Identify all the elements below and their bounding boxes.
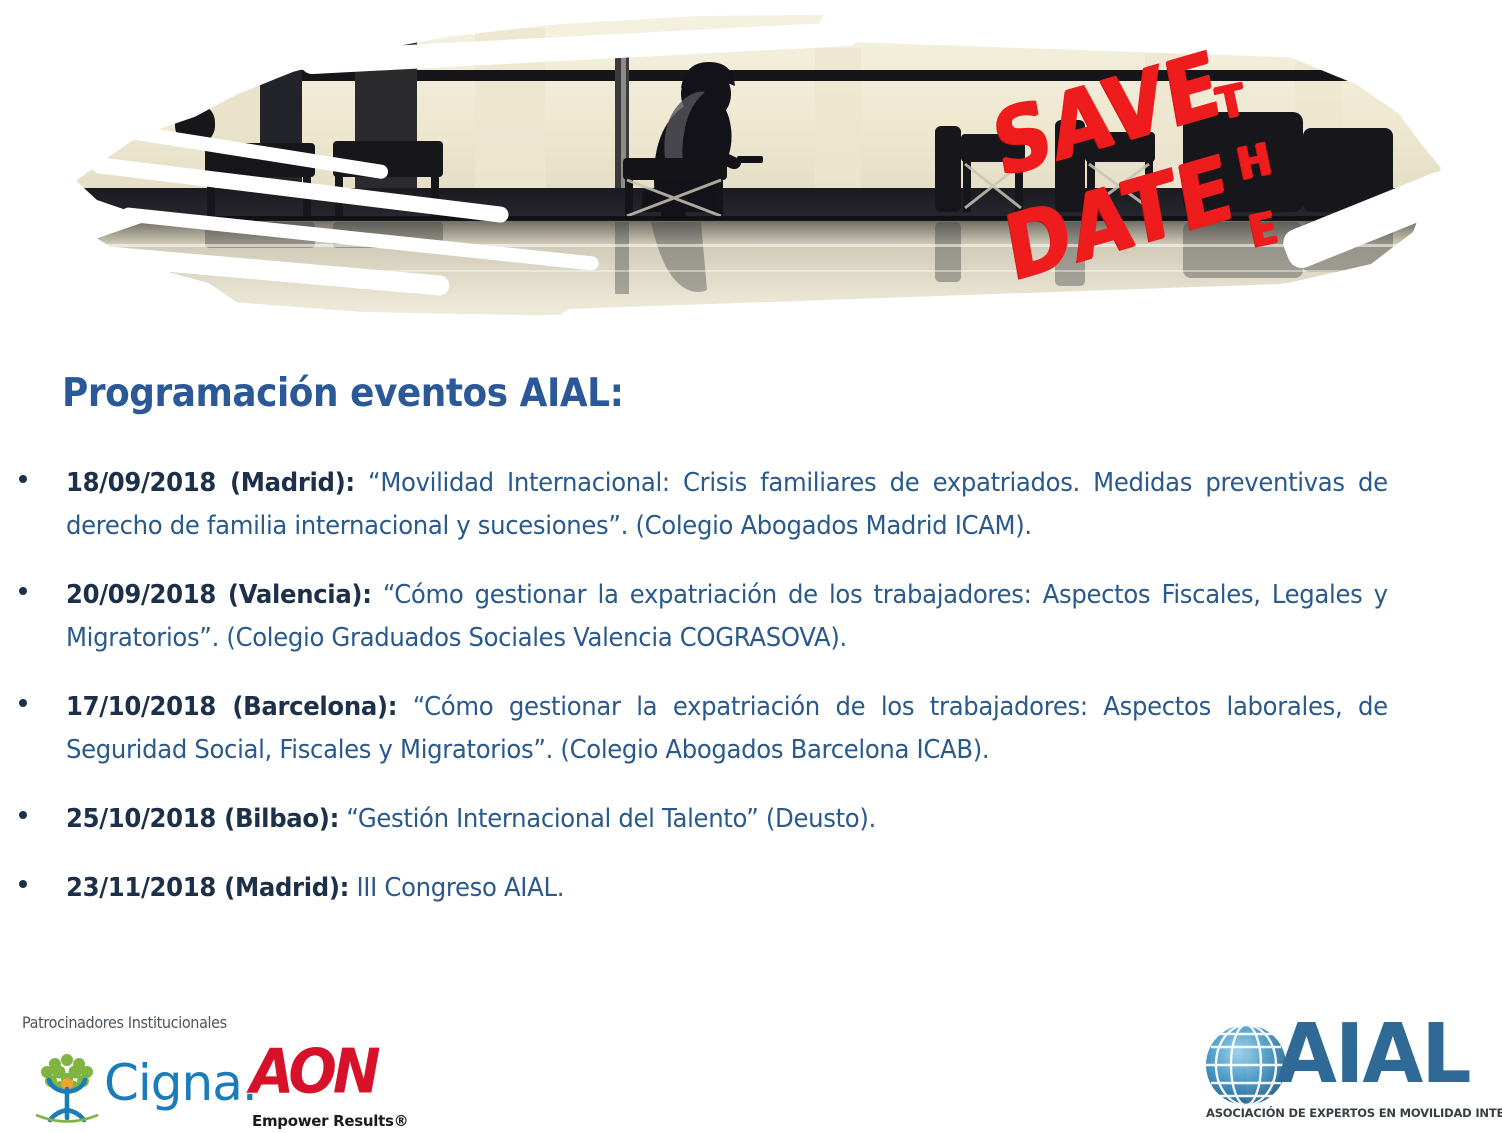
bullet-dot-icon	[19, 699, 27, 707]
list-item: 23/11/2018 (Madrid): III Congreso AIAL.	[0, 867, 1502, 910]
aial-wordmark: AIAL	[1276, 1014, 1470, 1096]
hero-banner: SAVE DATE T H E	[0, 0, 1502, 340]
hero-photo	[55, 8, 1455, 328]
bullet-dot-icon	[19, 587, 27, 595]
list-item-text: 18/09/2018 (Madrid): “Movilidad Internac…	[66, 462, 1388, 548]
event-date: 18/09/2018 (Madrid):	[66, 468, 355, 498]
aial-tagline: ASOCIACIÓN DE EXPERTOS EN MOVILIDAD INTE…	[1206, 1106, 1502, 1120]
event-date: 17/10/2018 (Barcelona):	[66, 692, 397, 722]
bullet-dot-icon	[19, 475, 27, 483]
list-item: 17/10/2018 (Barcelona): “Cómo gestionar …	[0, 686, 1502, 772]
sponsors-label: Patrocinadores Institucionales	[22, 1013, 227, 1032]
aon-logo: AON Empower Results®	[250, 1042, 390, 1132]
list-item-text: 20/09/2018 (Valencia): “Cómo gestionar l…	[66, 574, 1388, 660]
cigna-tree-icon	[30, 1048, 104, 1124]
page-title: Programación eventos AIAL:	[62, 371, 623, 416]
event-date: 23/11/2018 (Madrid):	[66, 873, 349, 903]
cigna-wordmark: Cigna.	[104, 1058, 257, 1108]
cigna-logo: Cigna.	[30, 1046, 235, 1126]
event-description: III Congreso AIAL.	[349, 873, 564, 903]
list-item: 20/09/2018 (Valencia): “Cómo gestionar l…	[0, 574, 1502, 660]
event-description: “Gestión Internacional del Talento” (Deu…	[339, 804, 876, 834]
event-date: 25/10/2018 (Bilbao):	[66, 804, 339, 834]
list-item-text: 17/10/2018 (Barcelona): “Cómo gestionar …	[66, 686, 1388, 772]
airport-lounge-illustration	[55, 8, 1455, 328]
aon-tagline: Empower Results®	[252, 1112, 408, 1130]
aial-logo: AIAL ASOCIACIÓN DE EXPERTOS EN MOVILIDAD…	[1200, 1018, 1492, 1122]
list-item: 18/09/2018 (Madrid): “Movilidad Internac…	[0, 462, 1502, 548]
bullet-dot-icon	[19, 811, 27, 819]
event-date: 20/09/2018 (Valencia):	[66, 580, 372, 610]
bullet-dot-icon	[19, 880, 27, 888]
aon-wordmark: AON	[250, 1042, 377, 1104]
list-item-text: 25/10/2018 (Bilbao): “Gestión Internacio…	[66, 798, 1388, 841]
list-item-text: 23/11/2018 (Madrid): III Congreso AIAL.	[66, 867, 1388, 910]
list-item: 25/10/2018 (Bilbao): “Gestión Internacio…	[0, 798, 1502, 841]
events-list: 18/09/2018 (Madrid): “Movilidad Internac…	[0, 462, 1502, 936]
